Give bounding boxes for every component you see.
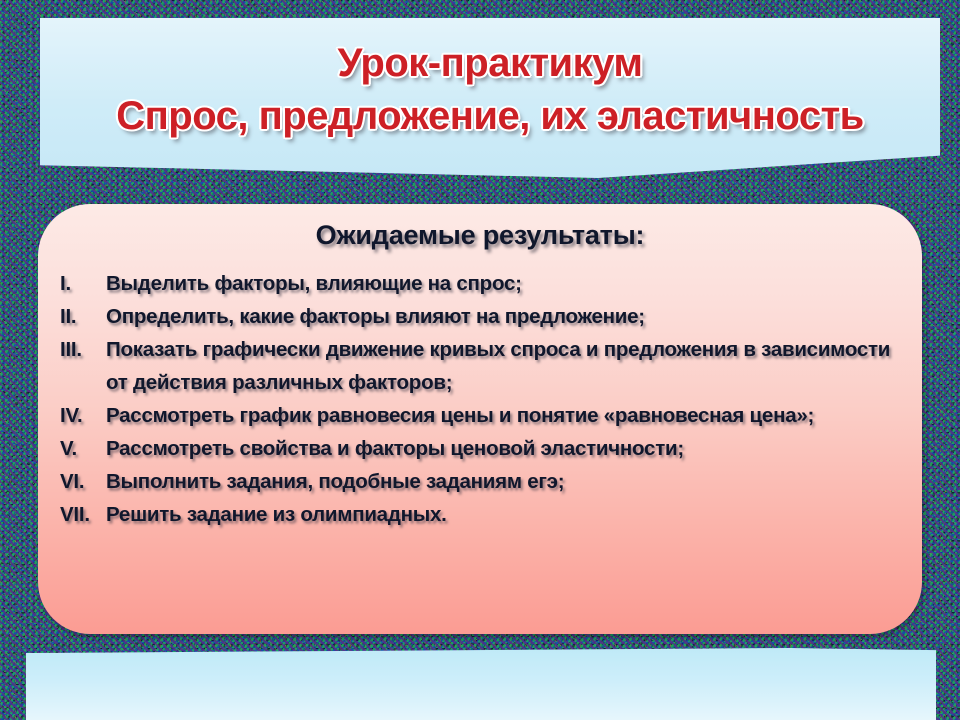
expected-results-panel: Ожидаемые результаты: I. Выделить фактор… bbox=[38, 204, 922, 634]
list-item-numeral: V. bbox=[60, 432, 106, 465]
list-item: IV. Рассмотреть график равновесия цены и… bbox=[60, 399, 902, 432]
list-item-text: Рассмотреть график равновесия цены и пон… bbox=[106, 399, 902, 432]
list-item-text: Рассмотреть свойства и факторы ценовой э… bbox=[106, 432, 902, 465]
list-item: VI. Выполнить задания, подобные заданиям… bbox=[60, 465, 902, 498]
list-item: II. Определить, какие факторы влияют на … bbox=[60, 300, 902, 333]
expected-results-list: I. Выделить факторы, влияющие на спрос; … bbox=[38, 267, 922, 531]
list-item: III. Показать графически движение кривых… bbox=[60, 333, 902, 399]
expected-results-heading: Ожидаемые результаты: bbox=[38, 204, 922, 257]
list-item: VII. Решить задание из олимпиадных. bbox=[60, 498, 902, 531]
list-item-text: Выполнить задания, подобные заданиям егэ… bbox=[106, 465, 902, 498]
title-banner bbox=[40, 18, 940, 178]
presentation-slide: Урок-практикум Спрос, предложение, их эл… bbox=[0, 0, 960, 720]
list-item: V. Рассмотреть свойства и факторы ценово… bbox=[60, 432, 902, 465]
list-item-numeral: I. bbox=[60, 267, 106, 300]
list-item-numeral: IV. bbox=[60, 399, 106, 432]
list-item-text: Выделить факторы, влияющие на спрос; bbox=[106, 267, 902, 300]
list-item-text: Показать графически движение кривых спро… bbox=[106, 333, 902, 399]
list-item-text: Решить задание из олимпиадных. bbox=[106, 498, 902, 531]
list-item-numeral: III. bbox=[60, 333, 106, 366]
list-item: I. Выделить факторы, влияющие на спрос; bbox=[60, 267, 902, 300]
list-item-numeral: VII. bbox=[60, 498, 106, 531]
list-item-numeral: VI. bbox=[60, 465, 106, 498]
footer-bar bbox=[26, 648, 936, 720]
list-item-text: Определить, какие факторы влияют на пред… bbox=[106, 300, 902, 333]
list-item-numeral: II. bbox=[60, 300, 106, 333]
